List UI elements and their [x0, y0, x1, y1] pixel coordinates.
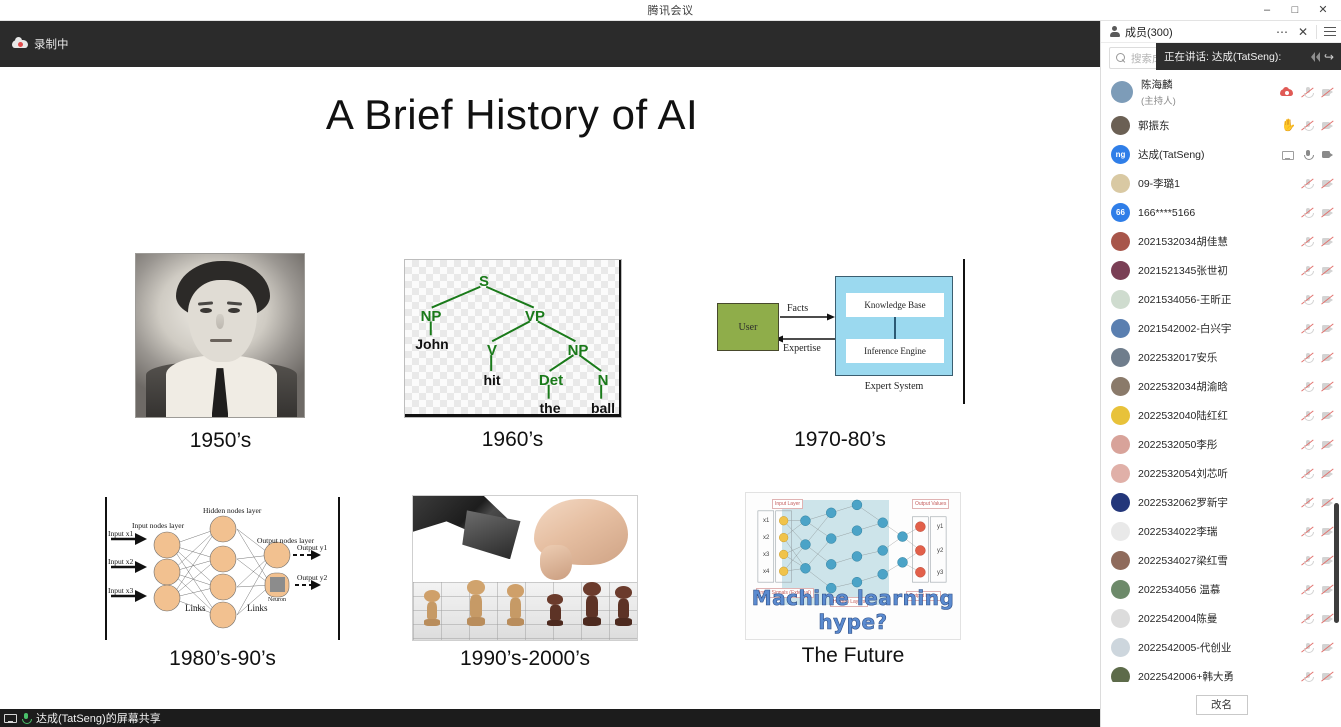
slide-cell-1960s: S NP VP V NP Det N John hit the ball 196… [400, 259, 625, 459]
participant-status-icons [1301, 642, 1334, 653]
avatar: 66 [1111, 203, 1130, 222]
avatar [1111, 81, 1133, 103]
knowledge-base-box: Knowledge Base [846, 293, 944, 317]
input-x3-label: Input x3 [108, 586, 133, 595]
microphone-muted-icon[interactable] [1301, 294, 1314, 305]
avatar [1111, 580, 1130, 599]
tencent-meeting-window: 腾讯会议 – □ ✕ 录制中 A Brief History of AI [0, 0, 1341, 727]
participant-name-wrap: 2022534056 温慕 [1138, 582, 1293, 597]
camera-off-icon[interactable] [1321, 207, 1334, 218]
participant-status-icons [1301, 323, 1334, 334]
parse-node-v: V [487, 342, 497, 359]
alan-turing-portrait [135, 253, 305, 418]
more-options-icon[interactable]: ⋯ [1274, 24, 1290, 40]
ml-input-x2: x2 [763, 535, 769, 541]
human-hand [534, 499, 628, 565]
input-layer-label: Input nodes layer [132, 521, 184, 530]
participant-name-wrap: 郭振东 [1138, 118, 1273, 133]
participant-name: 09-李璐1 [1138, 176, 1293, 191]
camera-off-icon[interactable] [1321, 642, 1334, 653]
ml-input-layer-tag: Input Layer [772, 499, 803, 509]
microphone-muted-icon[interactable] [1301, 207, 1314, 218]
participant-name-wrap: 2022542004陈曼 [1138, 611, 1293, 626]
participant-name-wrap: 2022534022李瑞 [1138, 524, 1293, 539]
participant-status-icons [1280, 87, 1334, 98]
participant-row[interactable]: 2022532062罗新宇 [1101, 488, 1341, 517]
avatar [1111, 406, 1130, 425]
participant-name-wrap: 2022532050李彤 [1138, 437, 1293, 452]
microphone-muted-icon[interactable] [1301, 555, 1314, 566]
participant-status-icons [1301, 613, 1334, 624]
kb-ie-connector [894, 317, 896, 339]
camera-off-icon[interactable] [1321, 294, 1334, 305]
parse-node-det: Det [539, 372, 563, 389]
participant-status-icons [1301, 265, 1334, 276]
participant-row[interactable]: 2022534056 温慕 [1101, 575, 1341, 604]
chess-board [413, 582, 637, 640]
camera-off-icon[interactable] [1321, 236, 1334, 247]
avatar [1111, 464, 1130, 483]
participants-scrollbar-thumb[interactable] [1334, 503, 1339, 623]
participant-name: 2022532017安乐 [1138, 350, 1293, 365]
participant-name-wrap: 2022532017安乐 [1138, 350, 1293, 365]
participant-row[interactable]: ng达成(TatSeng) [1101, 140, 1341, 169]
parse-node-np2: NP [568, 342, 589, 359]
chess-piece-black-pawn [547, 594, 563, 628]
caption-1970-80s: 1970-80’s [700, 428, 980, 452]
participant-name: 2021542002-白兴宇 [1138, 321, 1293, 336]
participant-name: 2021521345张世初 [1138, 263, 1293, 278]
participant-row[interactable]: 2021534056-王昕正 [1101, 285, 1341, 314]
participant-name: 陈海麟 [1141, 77, 1272, 92]
parse-node-vp: VP [525, 308, 545, 325]
camera-off-icon[interactable] [1321, 120, 1334, 131]
microphone-muted-icon[interactable] [1301, 410, 1314, 421]
caption-the-future: The Future [745, 644, 961, 668]
participant-row[interactable]: 2022532054刘芯听 [1101, 459, 1341, 488]
participant-row[interactable]: 2022532034胡渝晗 [1101, 372, 1341, 401]
avatar [1111, 348, 1130, 367]
camera-off-icon[interactable] [1321, 497, 1334, 508]
camera-off-icon[interactable] [1321, 381, 1334, 392]
screen-share-icon[interactable] [1281, 149, 1294, 160]
robot-vs-human-chess [412, 495, 638, 641]
caption-1960s: 1960’s [400, 428, 625, 452]
input-x1-label: Input x1 [108, 529, 133, 538]
camera-off-icon[interactable] [1321, 265, 1334, 276]
screen-share-label: 达成(TatSeng)的屏幕共享 [36, 710, 161, 726]
parse-leaf-hit: hit [483, 372, 500, 388]
camera-off-icon[interactable] [1321, 178, 1334, 189]
camera-off-icon[interactable] [1321, 439, 1334, 450]
participant-name: 166****5166 [1138, 207, 1293, 219]
ml-input-x1: x1 [763, 518, 769, 524]
avatar [1111, 261, 1130, 280]
recording-indicator[interactable]: 录制中 [12, 36, 69, 52]
microphone-muted-icon[interactable] [1301, 323, 1314, 334]
maximize-button[interactable]: □ [1281, 0, 1309, 21]
ml-hype-headline: Machine learning hype? [746, 586, 960, 634]
participant-status-icons [1301, 439, 1334, 450]
ml-output-y3: y3 [937, 570, 943, 576]
participant-row[interactable]: 2022542005-代创业 [1101, 633, 1341, 662]
microphone-muted-icon[interactable] [1301, 381, 1314, 392]
participant-name: 2022534056 温慕 [1138, 582, 1293, 597]
participant-status-icons: ✋ [1281, 120, 1334, 131]
person-icon [1109, 26, 1120, 37]
links-label-right: Links [247, 603, 268, 613]
participant-status-icons [1301, 236, 1334, 247]
participant-name-wrap: 2021532034胡佳慧 [1138, 234, 1293, 249]
microphone-icon [20, 713, 32, 724]
microphone-muted-icon[interactable] [1301, 497, 1314, 508]
participants-panel-title: 成员(300) [1125, 24, 1269, 40]
participants-list[interactable]: 陈海麟(主持人)郭振东✋ng达成(TatSeng)09-李璐166166****… [1101, 73, 1341, 703]
microphone-muted-icon[interactable] [1301, 613, 1314, 624]
nn-links [105, 497, 340, 640]
camera-off-icon[interactable] [1321, 87, 1334, 98]
avatar [1111, 319, 1130, 338]
participant-name: 2022542004陈曼 [1138, 611, 1293, 626]
microphone-muted-icon[interactable] [1301, 642, 1314, 653]
microphone-muted-icon[interactable] [1301, 178, 1314, 189]
participant-name-wrap: 2021534056-王昕正 [1138, 292, 1293, 307]
input-x2-label: Input x2 [108, 557, 133, 566]
participant-name: 达成(TatSeng) [1138, 147, 1273, 162]
caption-1980s-90s: 1980’s-90’s [105, 647, 340, 671]
parse-node-np: NP [421, 308, 442, 325]
participant-row[interactable]: 2022534027梁红雪 [1101, 546, 1341, 575]
expertise-arrow-label: Expertise [783, 343, 821, 354]
expert-system-label: Expert System [835, 381, 953, 392]
cloud-record-icon[interactable] [1280, 87, 1294, 98]
syntax-parse-tree: S NP VP V NP Det N John hit the ball [404, 259, 622, 418]
avatar [1111, 435, 1130, 454]
participant-status-icons [1301, 381, 1334, 392]
participant-status-icons [1281, 149, 1334, 160]
caption-1990s-2000s: 1990’s-2000’s [412, 647, 638, 671]
meeting-toolbar: 录制中 [0, 21, 1100, 67]
slide-cell-1950s: 1950’s [108, 253, 333, 453]
participant-status-icons [1301, 352, 1334, 363]
recording-label: 录制中 [34, 36, 69, 52]
participant-name-wrap: 166****5166 [1138, 207, 1293, 219]
parse-leaf-john: John [415, 336, 448, 352]
participant-row[interactable]: 2021542002-白兴宇 [1101, 314, 1341, 343]
participant-status-icons [1301, 584, 1334, 595]
microphone-muted-icon[interactable] [1301, 439, 1314, 450]
close-icon[interactable]: ✕ [1295, 24, 1311, 40]
participant-name: 2022532050李彤 [1138, 437, 1293, 452]
participant-name-wrap: 陈海麟(主持人) [1141, 77, 1272, 107]
camera-off-icon[interactable] [1321, 468, 1334, 479]
ml-output-y1: y1 [937, 524, 943, 530]
participant-name-wrap: 2021521345张世初 [1138, 263, 1293, 278]
participant-name: 2022532034胡渝晗 [1138, 379, 1293, 394]
camera-off-icon[interactable] [1321, 352, 1334, 363]
participant-name: 2022532062罗新宇 [1138, 495, 1293, 510]
participant-name: 2021532034胡佳慧 [1138, 234, 1293, 249]
participant-name: 2022534022李瑞 [1138, 524, 1293, 539]
participant-name-wrap: 2022532034胡渝晗 [1138, 379, 1293, 394]
ml-input-x3: x3 [763, 552, 769, 558]
participant-row[interactable]: 2022532017安乐 [1101, 343, 1341, 372]
participant-status-icons [1301, 671, 1334, 682]
participants-scrollbar-track[interactable] [1335, 73, 1340, 703]
deep-learning-hype: x1 x2 x3 x4 y1 y2 y3 Input Layer Hidden … [745, 492, 961, 640]
participant-name-wrap: 2022532062罗新宇 [1138, 495, 1293, 510]
participant-row[interactable]: 2021532034胡佳慧 [1101, 227, 1341, 256]
hidden-layer-label: Hidden nodes layer [203, 506, 261, 515]
close-button[interactable]: ✕ [1309, 0, 1337, 21]
expert-system-box: Knowledge Base Inference Engine [835, 276, 953, 376]
shared-screen-stage: A Brief History of AI 1950’s [0, 67, 1100, 709]
participant-name: 2022534027梁红雪 [1138, 553, 1293, 568]
chess-piece-white-1 [424, 590, 440, 628]
participant-status-icons [1301, 294, 1334, 305]
participant-status-icons [1301, 410, 1334, 421]
participant-row[interactable]: 2022532050李彤 [1101, 430, 1341, 459]
participant-name-wrap: 2022532054刘芯听 [1138, 466, 1293, 481]
participant-name: 2022532054刘芯听 [1138, 466, 1293, 481]
microphone-icon[interactable] [1301, 149, 1314, 160]
microphone-muted-icon[interactable] [1301, 468, 1314, 479]
ml-output-y2: y2 [937, 548, 943, 554]
microphone-muted-icon[interactable] [1301, 265, 1314, 276]
raise-hand-icon[interactable]: ✋ [1281, 120, 1294, 131]
camera-off-icon[interactable] [1321, 584, 1334, 595]
chess-piece-white-2 [507, 584, 524, 628]
ml-input-x4: x4 [763, 569, 769, 575]
robot-gripper [462, 510, 520, 559]
avatar [1111, 290, 1130, 309]
camera-off-icon[interactable] [1321, 526, 1334, 537]
parse-node-n: N [598, 372, 609, 389]
neuron-label: Neuron [268, 597, 286, 603]
expert-system-diagram: User Knowledge Base Inference Engine Fac… [705, 259, 965, 404]
participant-status-icons [1301, 468, 1334, 479]
avatar [1111, 609, 1130, 628]
header-divider [1316, 25, 1317, 39]
screen-share-status-bar: 达成(TatSeng)的屏幕共享 [0, 709, 1100, 727]
participants-panel-header: 成员(300) ⋯ ✕ [1101, 21, 1341, 43]
participant-status-icons [1301, 178, 1334, 189]
participant-row[interactable]: 2022532040陆红红 [1101, 401, 1341, 430]
window-controls: – □ ✕ [1253, 0, 1337, 21]
inference-engine-box: Inference Engine [846, 339, 944, 363]
participant-row[interactable]: 66166****5166 [1101, 198, 1341, 227]
participant-name-wrap: 2022532040陆红红 [1138, 408, 1293, 423]
microphone-muted-icon[interactable] [1301, 352, 1314, 363]
camera-off-icon[interactable] [1321, 671, 1334, 682]
screen-share-icon [4, 713, 16, 724]
speaking-toast: 正在讲话: 达成(TatSeng): ↪ [1156, 43, 1341, 70]
microphone-muted-icon[interactable] [1301, 584, 1314, 595]
slide-cell-the-future: x1 x2 x3 x4 y1 y2 y3 Input Layer Hidden … [745, 492, 961, 682]
microphone-muted-icon[interactable] [1301, 120, 1314, 131]
participant-name: 郭振东 [1138, 118, 1273, 133]
window-title-bar: 腾讯会议 – □ ✕ [0, 0, 1341, 21]
avatar [1111, 232, 1130, 251]
participant-name: 2022542005-代创业 [1138, 640, 1293, 655]
slide-cell-1980s-90s: Hidden nodes layer Input nodes layer Out… [105, 497, 340, 687]
slide-cell-1970-80s: User Knowledge Base Inference Engine Fac… [700, 259, 980, 459]
participant-name: 2021534056-王昕正 [1138, 292, 1293, 307]
chess-piece-black-2 [615, 586, 632, 628]
output-y2-label: Output y2 [297, 573, 327, 582]
participant-row[interactable]: 2022542004陈曼 [1101, 604, 1341, 633]
hamburger-menu-icon[interactable] [1322, 24, 1338, 40]
presentation-slide: A Brief History of AI 1950’s [0, 67, 1100, 709]
slide-title: A Brief History of AI [0, 91, 1024, 139]
microphone-muted-icon[interactable] [1301, 236, 1314, 247]
microphone-muted-icon[interactable] [1301, 87, 1314, 98]
participant-name-wrap: 达成(TatSeng) [1138, 147, 1273, 162]
participant-status-icons [1301, 555, 1334, 566]
neural-network-diagram: Hidden nodes layer Input nodes layer Out… [105, 497, 340, 640]
participant-row[interactable]: 陈海麟(主持人) [1101, 73, 1341, 111]
participant-row[interactable]: 郭振东✋ [1101, 111, 1341, 140]
microphone-muted-icon[interactable] [1301, 671, 1314, 682]
participant-role: (主持人) [1141, 93, 1272, 107]
participants-panel-footer: 改名 [1101, 682, 1341, 727]
avatar [1111, 638, 1130, 657]
participant-name-wrap: 2021542002-白兴宇 [1138, 321, 1293, 336]
expert-user-box: User [717, 303, 779, 351]
participant-status-icons [1301, 207, 1334, 218]
participant-name: 2022532040陆红红 [1138, 408, 1293, 423]
chess-piece-black-knight [583, 582, 601, 628]
window-title: 腾讯会议 [648, 2, 694, 18]
participant-row[interactable]: 2022534022李瑞 [1101, 517, 1341, 546]
participant-name-wrap: 09-李璐1 [1138, 176, 1293, 191]
caption-1950s: 1950’s [108, 429, 333, 453]
participant-status-icons [1301, 526, 1334, 537]
avatar [1111, 116, 1130, 135]
camera-icon[interactable] [1321, 149, 1334, 160]
minimize-button[interactable]: – [1253, 0, 1281, 21]
sound-wave-icon [1311, 52, 1320, 62]
search-icon [1116, 53, 1126, 63]
parse-node-s: S [479, 273, 489, 290]
participant-row[interactable]: 2021521345张世初 [1101, 256, 1341, 285]
avatar [1111, 551, 1130, 570]
avatar [1111, 522, 1130, 541]
avatar [1111, 174, 1130, 193]
microphone-muted-icon[interactable] [1301, 526, 1314, 537]
avatar [1111, 377, 1130, 396]
camera-off-icon[interactable] [1321, 555, 1334, 566]
rename-button[interactable]: 改名 [1196, 695, 1248, 715]
camera-off-icon[interactable] [1321, 410, 1334, 421]
participant-row[interactable]: 09-李璐1 [1101, 169, 1341, 198]
output-y1-label: Output y1 [297, 543, 327, 552]
ml-output-values-tag: Output Values [912, 499, 949, 509]
speaking-toast-text: 正在讲话: 达成(TatSeng): [1164, 49, 1307, 64]
back-arrow-icon[interactable]: ↪ [1324, 50, 1334, 64]
participant-name-wrap: 2022542005-代创业 [1138, 640, 1293, 655]
chess-piece-white-knight [467, 580, 485, 628]
participant-status-icons [1301, 497, 1334, 508]
camera-off-icon[interactable] [1321, 323, 1334, 334]
slide-cell-1990s-2000s: 1990’s-2000’s [412, 495, 638, 685]
avatar: ng [1111, 145, 1130, 164]
facts-arrow-label: Facts [787, 303, 808, 314]
avatar [1111, 493, 1130, 512]
participants-panel: 成员(300) ⋯ ✕ 搜索成员 正在讲话: 达成(TatSeng): ↪ 陈海… [1100, 21, 1341, 727]
camera-off-icon[interactable] [1321, 613, 1334, 624]
cloud-record-icon [12, 38, 28, 50]
links-label-left: Links [185, 603, 206, 613]
participant-name-wrap: 2022534027梁红雪 [1138, 553, 1293, 568]
